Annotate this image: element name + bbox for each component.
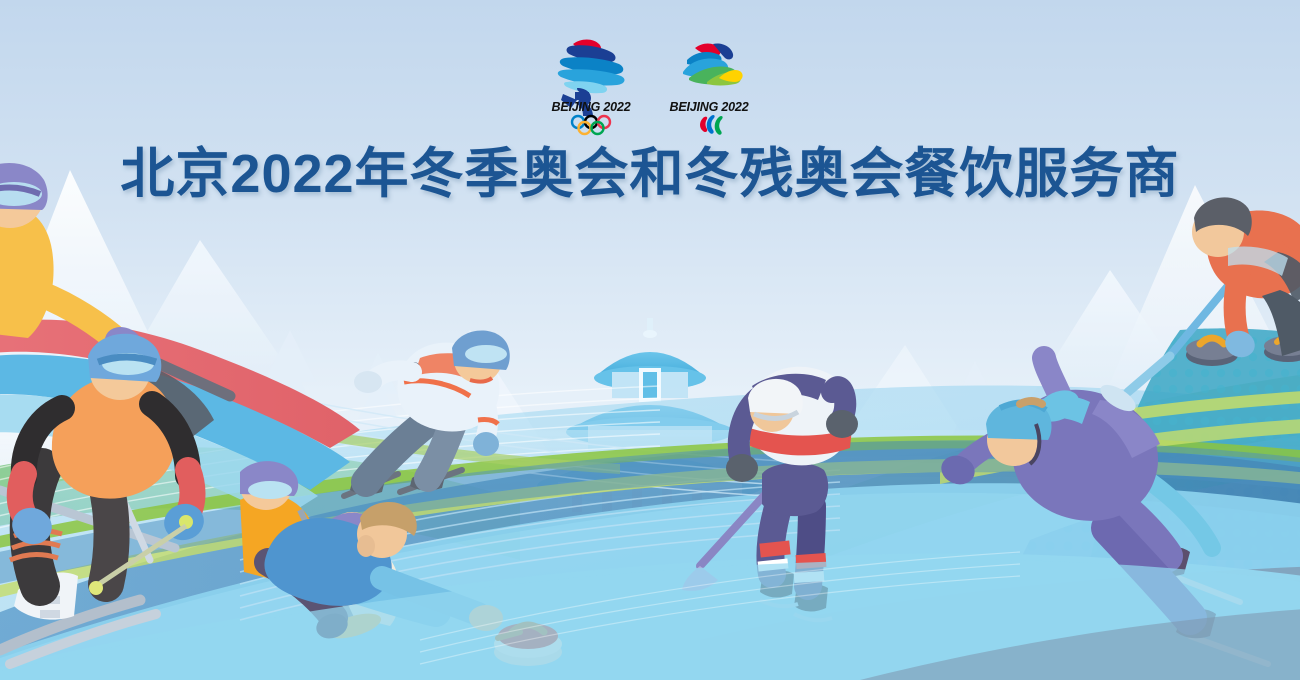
emblem-row: BEIJING 2022: [0, 30, 1300, 138]
beijing-2022-paralympic-emblem: BEIJING 2022: [661, 30, 757, 136]
page-title: 北京2022年冬季奥会和冬残奥会餐饮服务商: [120, 143, 1179, 205]
beijing-2022-banner: BEIJING 2022: [0, 0, 1300, 680]
olympic-wordmark: BEIJING 2022: [552, 100, 631, 114]
page-title-wrap: 北京2022年冬季奥会和冬残奥会餐饮服务商: [0, 143, 1300, 205]
leap-icon: [683, 43, 743, 85]
paralympic-wordmark: BEIJING 2022: [670, 100, 749, 114]
agitos-icon: [700, 115, 723, 135]
beijing-2022-olympic-emblem: BEIJING 2022: [543, 30, 639, 136]
olympic-rings-icon: [572, 116, 610, 134]
